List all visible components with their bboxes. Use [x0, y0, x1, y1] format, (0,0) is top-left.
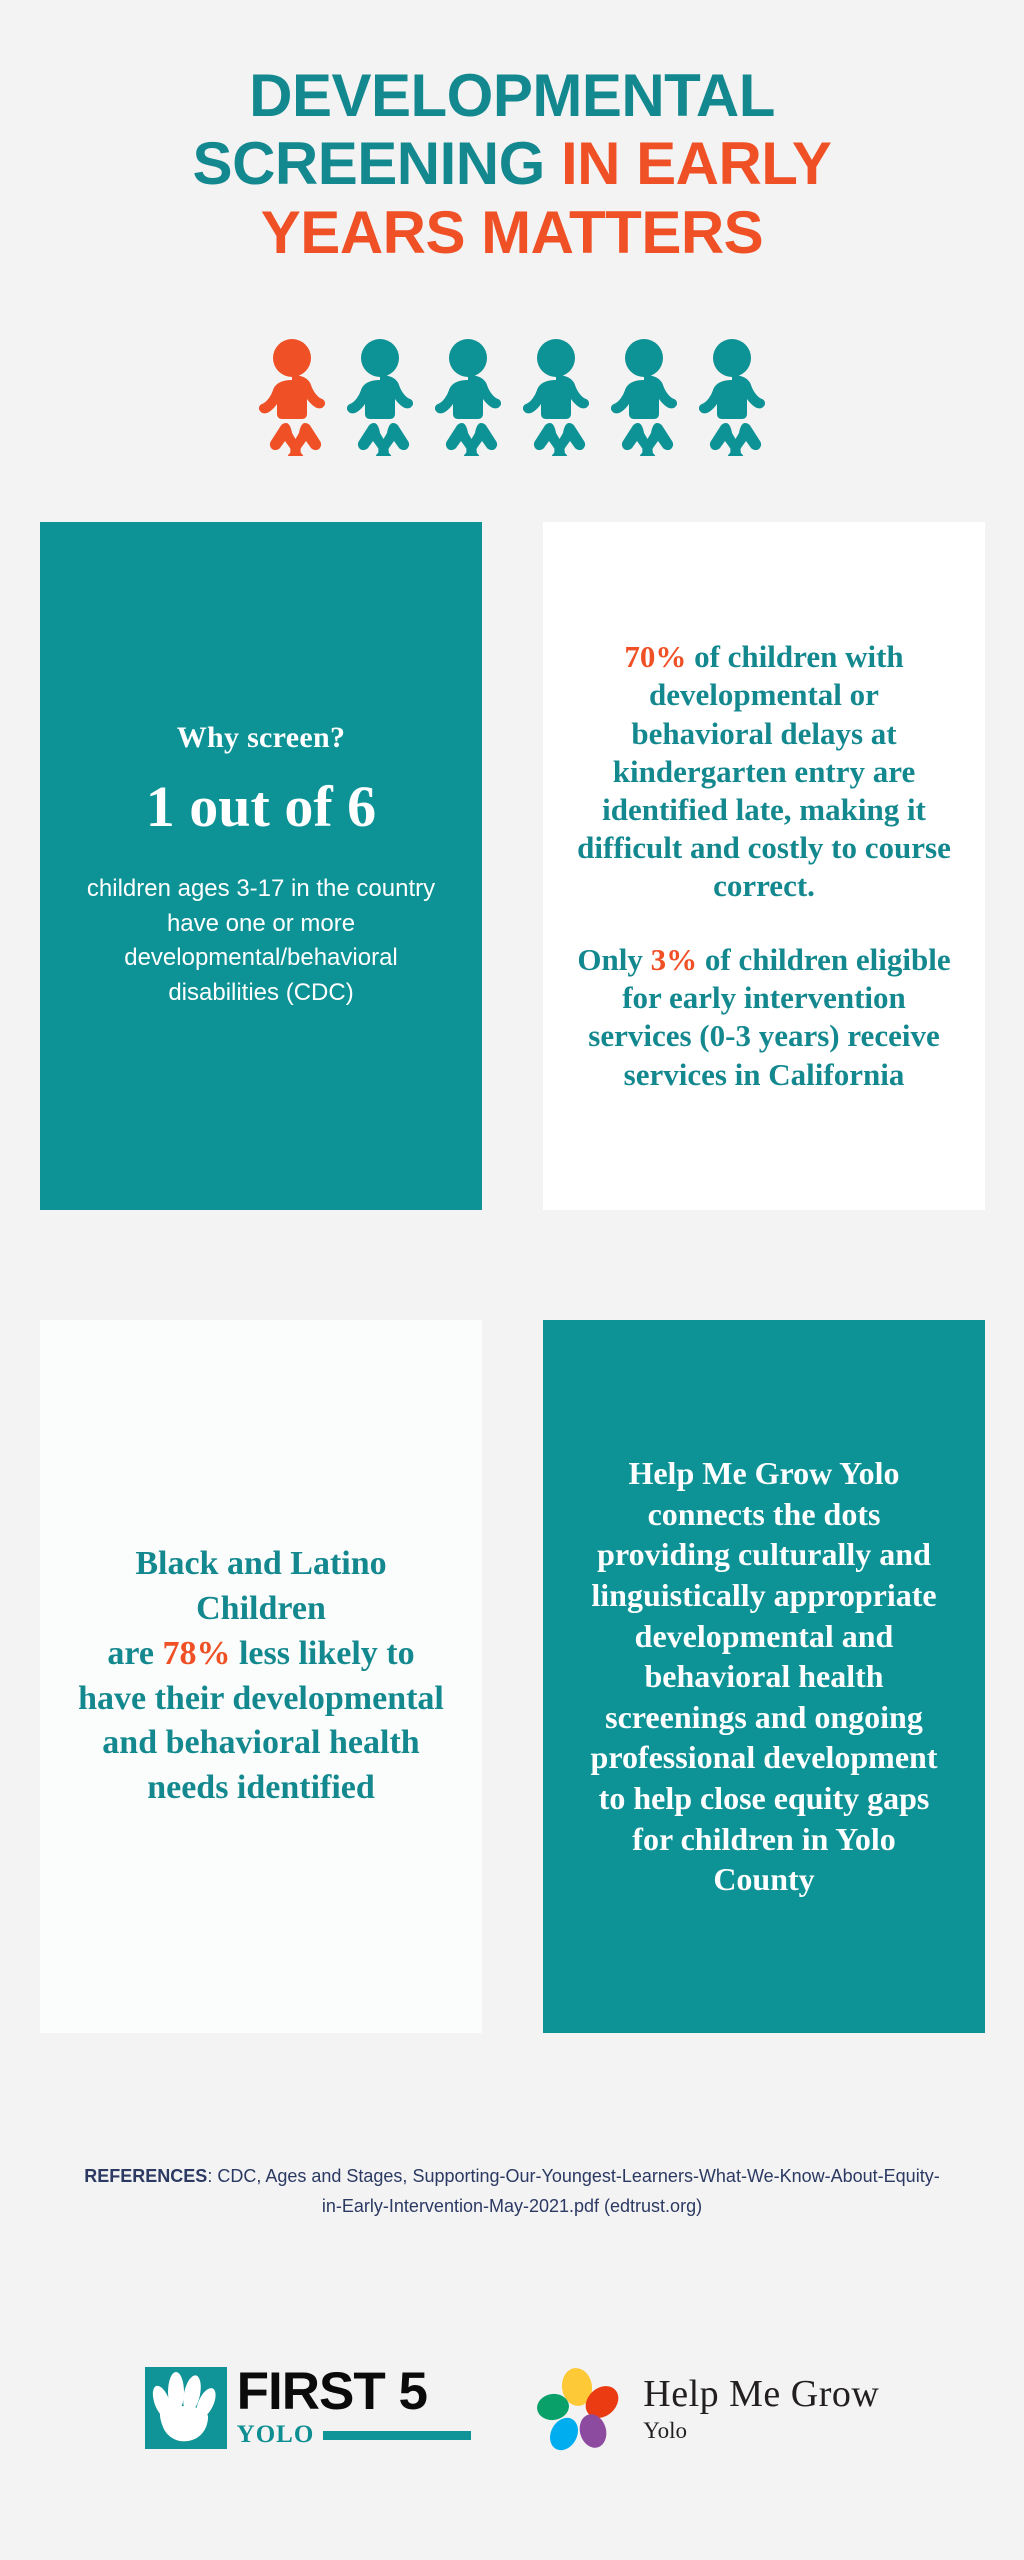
- baby-icon-4: [521, 338, 591, 456]
- baby-icon-6: [697, 338, 767, 456]
- page-title: DEVELOPMENTAL SCREENING IN EARLY YEARS M…: [0, 62, 1024, 267]
- why-screen-stat: 1 out of 6: [146, 777, 376, 838]
- help-me-grow-sub: Yolo: [643, 2419, 879, 2442]
- help-me-grow-text: Help Me Grow Yolo connects the dots prov…: [585, 1453, 943, 1900]
- equity-value: 78%: [162, 1635, 230, 1672]
- card-why-screen: Why screen? 1 out of 6 children ages 3-1…: [40, 522, 482, 1210]
- why-screen-description: children ages 3-17 in the country have o…: [70, 872, 452, 1010]
- title-line-3-text: YEARS MATTERS: [261, 199, 763, 266]
- hand-icon: [145, 2367, 227, 2449]
- baby-icon-2: [345, 338, 415, 456]
- title-line-2-orange: IN EARLY: [561, 130, 832, 197]
- baby-icon-5: [609, 338, 679, 456]
- first5-sub: YOLO: [237, 2421, 315, 2449]
- equity-paragraph: Black and Latino Children are 78% less l…: [70, 1542, 452, 1811]
- stat-paragraph-2: Only 3% of children eligible for early i…: [577, 941, 951, 1094]
- stat-1-value: 70%: [624, 639, 686, 674]
- footer-logos: FIRST 5 YOLO Help Me Grow Yolo: [0, 2360, 1024, 2456]
- why-screen-label: Why screen?: [177, 721, 346, 755]
- first5-yolo-logo[interactable]: FIRST 5 YOLO: [145, 2367, 472, 2449]
- flower-icon: [531, 2360, 627, 2456]
- help-me-grow-yolo-logo[interactable]: Help Me Grow Yolo: [531, 2360, 879, 2456]
- stat-2-value: 3%: [651, 942, 698, 977]
- card-stats: 70% of children with developmental or be…: [543, 522, 985, 1210]
- title-line-1-text: DEVELOPMENTAL: [249, 62, 775, 129]
- references-label: REFERENCES: [84, 2166, 207, 2186]
- first5-name: FIRST 5: [237, 2367, 472, 2417]
- card-equity: Black and Latino Children are 78% less l…: [40, 1320, 482, 2033]
- title-line-2: SCREENING IN EARLY: [0, 130, 1024, 198]
- title-line-1: DEVELOPMENTAL: [0, 62, 1024, 130]
- baby-icon-3: [433, 338, 503, 456]
- card-help-me-grow: Help Me Grow Yolo connects the dots prov…: [543, 1320, 985, 2033]
- stat-paragraph-1: 70% of children with developmental or be…: [577, 638, 951, 905]
- first5-rule: [323, 2431, 471, 2440]
- references-body: : CDC, Ages and Stages, Supporting-Our-Y…: [207, 2166, 939, 2216]
- references: REFERENCES: CDC, Ages and Stages, Suppor…: [0, 2162, 1024, 2221]
- baby-icon-1-highlighted: [257, 338, 327, 456]
- stat-1-text: of children with developmental or behavi…: [577, 639, 951, 903]
- help-me-grow-name: Help Me Grow: [643, 2375, 879, 2413]
- title-line-2-teal: SCREENING: [193, 130, 561, 197]
- title-line-3: YEARS MATTERS: [0, 199, 1024, 267]
- baby-icon-row: [0, 338, 1024, 456]
- stat-2-prefix: Only: [577, 942, 650, 977]
